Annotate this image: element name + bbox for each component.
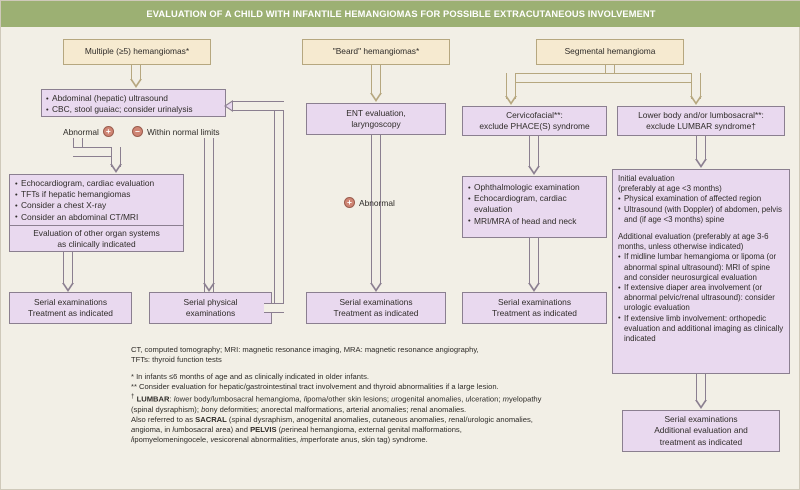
result-normal-multiple: – Within normal limits: [132, 126, 220, 137]
action-item: Consider an abdominal CT/MRI: [15, 212, 178, 223]
connector-ent-to-outcome: [371, 135, 381, 283]
sacral2-text-5: xternal genital malformations,: [363, 425, 462, 434]
workup-item: CBC, stool guaiac; consider urinalysis: [46, 104, 221, 115]
outcome-box-lumbosacral: Serial examinations Additional evaluatio…: [622, 410, 780, 452]
feedback-loop-bottom: [264, 303, 284, 313]
additional-evaluation-list: If midline lumbar hemangioma or lipoma (…: [618, 252, 784, 344]
dagger2-text-3: norectal malformations, arterial anomali…: [265, 405, 410, 414]
cervicofacial-actions-list: Ophthalmologic examination Echocardiogra…: [468, 182, 601, 227]
abnormal-label: Abnormal: [63, 127, 99, 137]
note-line-sacral-2: angioma, in lumbosacral area) and PELVIS…: [131, 425, 601, 435]
action-item: MRI/MRA of head and neck: [468, 216, 601, 227]
eval-item: If extensive diaper area involvement (or…: [618, 283, 784, 314]
outcome-box-beard: Serial examinations Treatment as indicat…: [306, 292, 446, 324]
dagger-text-7: yelopathy: [509, 395, 542, 404]
sacral3-text-3: mperforate anus, skin tag) syndrome.: [302, 435, 428, 444]
sacral-acronym: SACRAL: [195, 415, 227, 424]
initial-evaluation-heading: Initial evaluation (preferably at age <3…: [618, 174, 784, 194]
additional-evaluation-heading: Additional evaluation (preferably at age…: [618, 232, 784, 252]
workup-list-multiple: Abdominal (hepatic) ultrasound CBC, stoo…: [46, 93, 221, 115]
result-abnormal-multiple: Abnormal +: [63, 126, 114, 137]
note-line-sacral: Also referred to as SACRAL (spinal dysra…: [131, 415, 601, 425]
action-item: Echocardiogram, cardiac evaluation: [468, 193, 601, 215]
sacral-text-5: utaneous anomalies,: [376, 415, 448, 424]
page-title: EVALUATION OF A CHILD WITH INFANTILE HEM…: [146, 9, 655, 19]
outcome-box-multiple-normal: Serial physical examinations: [149, 292, 272, 324]
normal-label: Within normal limits: [147, 127, 220, 137]
sacral-text-3: pinal dysraphism,: [235, 415, 296, 424]
arrow-cervicofacial-to-outcome: [528, 283, 540, 292]
abnormal-label: Abnormal: [359, 198, 395, 208]
arrow-normal-to-serial-physical: [203, 283, 215, 292]
entry-label-beard: "Beard" hemangiomas*: [333, 46, 420, 57]
abnormal-actions-list: Echocardiogram, cardiac evaluation TFTs …: [15, 178, 178, 223]
sacral2-text-2: umbosacral area) and: [174, 425, 250, 434]
initial-evaluation-list: Physical examination of affected region …: [618, 194, 784, 225]
chart-header-bar: EVALUATION OF A CHILD WITH INFANTILE HEM…: [1, 1, 800, 27]
workup-item: Abdominal (hepatic) ultrasound: [46, 93, 221, 104]
connector-actions-to-outcome: [63, 252, 73, 283]
abbreviation-line: CT, computed tomography; MRI: magnetic r…: [131, 345, 601, 355]
connector-cervicofacial-to-actions: [529, 136, 539, 168]
lumbosacral-evaluation-box: Initial evaluation (preferably at age <3…: [612, 169, 790, 374]
arrow-feedback-into-workup: [224, 100, 233, 112]
action-item: Ophthalmologic examination: [468, 182, 601, 193]
sacral2-text-4: erineal hemangioma,: [285, 425, 358, 434]
entry-box-multiple-hemangiomas: Multiple (≥5) hemangiomas*: [63, 39, 211, 65]
action-item: Echocardiogram, cardiac evaluation: [15, 178, 178, 189]
dagger-marker: †: [131, 393, 134, 400]
dagger2-text-4: enal anomalies.: [413, 405, 466, 414]
entry-label-segmental: Segmental hemangioma: [565, 46, 656, 57]
arrow-beard-to-ent: [370, 93, 382, 102]
cervicofacial-title: Cervicofacial**: exclude PHACE(S) syndro…: [479, 110, 589, 132]
entry-box-beard-hemangiomas: "Beard" hemangiomas*: [302, 39, 450, 65]
lumbosacral-title-box: Lower body and/or lumbosacral**: exclude…: [617, 106, 785, 136]
action-item: TFTs if hepatic hemangiomas: [15, 189, 178, 200]
minus-sign-icon: –: [132, 126, 143, 137]
feedback-loop-top: [233, 101, 284, 111]
eval-item: Physical examination of affected region: [618, 194, 784, 204]
entry-box-segmental-hemangioma: Segmental hemangioma: [536, 39, 684, 65]
arrow-actions-to-outcome: [62, 283, 74, 292]
note-line-dagger-2: (spinal dysraphism); bony deformities; a…: [131, 405, 601, 415]
spacer: [618, 225, 784, 232]
arrow-ent-to-outcome: [370, 283, 382, 292]
dagger2-text-1: (spinal dysraphism);: [131, 405, 201, 414]
feedback-loop-vertical: [274, 101, 284, 308]
connector-lumbosacral-to-eval: [696, 136, 706, 161]
sacral3-text-2: esicorenal abnormalities,: [214, 435, 300, 444]
box-divider: [10, 225, 183, 226]
sacral2-text-1: ngioma, in: [135, 425, 172, 434]
arrow-lumbosacral-to-eval: [695, 159, 707, 168]
dagger-text-4: ipoma/other skin lesions;: [305, 395, 391, 404]
workup-box-multiple: Abdominal (hepatic) ultrasound CBC, stoo…: [41, 89, 226, 117]
outcome-label: Serial physical examinations: [184, 297, 238, 319]
outcome-label: Serial examinations Treatment as indicat…: [334, 297, 419, 319]
connector-segmental-split: [506, 73, 701, 83]
entry-label-multiple: Multiple (≥5) hemangiomas*: [85, 46, 189, 57]
sacral-text-1: Also referred to as: [131, 415, 195, 424]
dagger-text-2: ower body/l: [175, 395, 214, 404]
dagger2-text-2: ony deformities;: [205, 405, 261, 414]
eval-item: Ultrasound (with Doppler) of abdomen, pe…: [618, 205, 784, 225]
flowchart-page: EVALUATION OF A CHILD WITH INFANTILE HEM…: [0, 0, 800, 490]
outcome-box-multiple-abnormal: Serial examinations Treatment as indicat…: [9, 292, 132, 324]
abnormal-actions-box-multiple: Echocardiogram, cardiac evaluation TFTs …: [9, 174, 184, 252]
ent-evaluation-label: ENT evaluation, laryngoscopy: [346, 108, 405, 130]
note-line-sacral-3: lipomyelomeningocele, vesicorenal abnorm…: [131, 435, 601, 445]
plus-sign-icon: +: [344, 197, 355, 208]
sacral3-text-1: ipomyelomeningocele,: [133, 435, 211, 444]
outcome-label: Serial examinations Additional evaluatio…: [654, 414, 748, 448]
arrow-segmental-to-cervicofacial: [505, 96, 517, 105]
spacer: [131, 365, 601, 372]
cervicofacial-actions-box: Ophthalmologic examination Echocardiogra…: [462, 176, 607, 238]
outcome-label: Serial examinations Treatment as indicat…: [492, 297, 577, 319]
connector-beard-to-ent: [371, 65, 381, 95]
pelvis-acronym: PELVIS: [250, 425, 276, 434]
cervicofacial-title-box: Cervicofacial**: exclude PHACE(S) syndro…: [462, 106, 607, 136]
abnormal-actions-footer: Evaluation of other organ systems as cli…: [15, 228, 178, 250]
action-item: Consider a chest X-ray: [15, 200, 178, 211]
dagger-text-3: mbosacral hemangioma,: [218, 395, 303, 404]
connector-lumbosacral-to-outcome: [696, 374, 706, 402]
plus-sign-icon: +: [103, 126, 114, 137]
eval-item: If midline lumbar hemangioma or lipoma (…: [618, 252, 784, 283]
lumbar-acronym: LUMBAR: [137, 395, 170, 404]
dagger-text-5: rogenital anomalies,: [395, 395, 465, 404]
note-line-asterisk: * In infants ≤6 months of age and as cli…: [131, 372, 601, 382]
workup-box-beard-ent: ENT evaluation, laryngoscopy: [306, 103, 446, 135]
footnotes-block: CT, computed tomography; MRI: magnetic r…: [131, 345, 601, 445]
dagger-text-6: lceration;: [470, 395, 503, 404]
sacral-text-4: nogenital anomalies,: [301, 415, 373, 424]
outcome-label: Serial examinations Treatment as indicat…: [28, 297, 113, 319]
connector-normal-down-1: [204, 138, 214, 293]
arrow-cervicofacial-to-actions: [528, 166, 540, 175]
note-line-dagger: † LUMBAR: lower body/lumbosacral hemangi…: [131, 392, 601, 405]
result-abnormal-beard: + Abnormal: [344, 197, 395, 208]
arrow-multiple-to-workup: [130, 79, 142, 88]
connector-cervicofacial-to-outcome: [529, 238, 539, 283]
outcome-box-cervicofacial: Serial examinations Treatment as indicat…: [462, 292, 607, 324]
eval-item: If extensive limb involvement: orthopedi…: [618, 314, 784, 345]
arrow-abnormal-to-actions: [110, 164, 122, 173]
lumbosacral-title: Lower body and/or lumbosacral**: exclude…: [638, 110, 764, 132]
arrow-segmental-to-lumbosacral: [690, 96, 702, 105]
abbreviation-line: TFTs: thyroid function tests: [131, 355, 601, 365]
sacral-text-6: enal/urologic anomalies,: [451, 415, 533, 424]
arrow-lumbosacral-to-outcome: [695, 400, 707, 409]
note-line-double-asterisk: ** Consider evaluation for hepatic/gastr…: [131, 382, 601, 392]
